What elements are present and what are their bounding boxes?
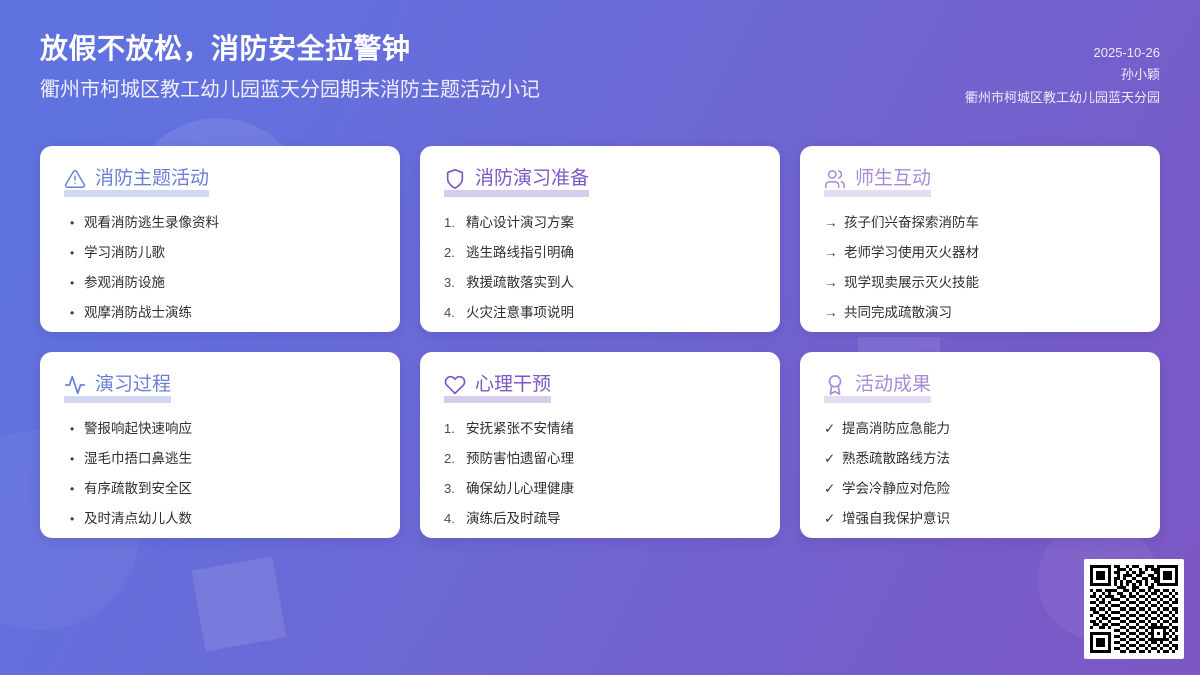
list-marker-arrow: → — [824, 269, 844, 296]
meta-organization: 衢州市柯城区教工幼儿园蓝天分园 — [965, 87, 1160, 109]
info-card: 消防演习准备1.精心设计演习方案2.逃生路线指引明确3.救援疏散落实到人4.火灾… — [420, 146, 780, 332]
list-marker-bullet: • — [64, 271, 84, 295]
list-marker-number: 3. — [444, 476, 466, 502]
list-marker-bullet: • — [64, 477, 84, 501]
list-item-label: 安抚紧张不安情绪 — [466, 415, 756, 442]
list-item: •有序疏散到安全区 — [64, 475, 376, 502]
info-card: 消防主题活动•观看消防逃生录像资料•学习消防儿歌•参观消防设施•观摩消防战士演练 — [40, 146, 400, 332]
list-item: 1.精心设计演习方案 — [444, 209, 756, 236]
list-marker-number: 4. — [444, 506, 466, 532]
list-item-label: 观摩消防战士演练 — [84, 299, 376, 326]
list-item-label: 学会冷静应对危险 — [842, 475, 1136, 502]
list-item-label: 观看消防逃生录像资料 — [84, 209, 376, 236]
list-item-label: 提高消防应急能力 — [842, 415, 1136, 442]
card-grid: 消防主题活动•观看消防逃生录像资料•学习消防儿歌•参观消防设施•观摩消防战士演练… — [40, 146, 1160, 538]
list-item: 3.救援疏散落实到人 — [444, 269, 756, 296]
list-marker-number: 2. — [444, 240, 466, 266]
list-item-label: 救援疏散落实到人 — [466, 269, 756, 296]
list-marker-bullet: • — [64, 417, 84, 441]
card-header: 演习过程 — [64, 374, 171, 403]
info-card: 心理干预1.安抚紧张不安情绪2.预防害怕遗留心理3.确保幼儿心理健康4.演练后及… — [420, 352, 780, 538]
list-marker-arrow: → — [824, 299, 844, 326]
list-item: ✓学会冷静应对危险 — [824, 475, 1136, 502]
list-item-label: 精心设计演习方案 — [466, 209, 756, 236]
card-title: 活动成果 — [855, 375, 931, 396]
card-header: 活动成果 — [824, 374, 931, 403]
list-item: •学习消防儿歌 — [64, 239, 376, 266]
card-title: 心理干预 — [475, 375, 551, 396]
list-item-label: 参观消防设施 — [84, 269, 376, 296]
card-header: 师生互动 — [824, 168, 931, 197]
list-item: ✓熟悉疏散路线方法 — [824, 445, 1136, 472]
card-title: 消防演习准备 — [475, 169, 589, 190]
qr-code — [1090, 565, 1178, 653]
list-marker-check: ✓ — [824, 415, 842, 442]
list-item-label: 逃生路线指引明确 — [466, 239, 756, 266]
list-item: →现学现卖展示灭火技能 — [824, 269, 1136, 296]
card-title: 演习过程 — [95, 375, 171, 396]
list-item-label: 警报响起快速响应 — [84, 415, 376, 442]
activity-pulse-icon — [64, 374, 86, 396]
header-meta-block: 2025-10-26 孙小颖 衢州市柯城区教工幼儿园蓝天分园 — [965, 42, 1160, 109]
list-item-label: 确保幼儿心理健康 — [466, 475, 756, 502]
shield-icon — [444, 168, 466, 190]
list-item-label: 孩子们兴奋探索消防车 — [844, 209, 1136, 236]
list-item-label: 及时清点幼儿人数 — [84, 505, 376, 532]
list-item: •观看消防逃生录像资料 — [64, 209, 376, 236]
list-item-label: 预防害怕遗留心理 — [466, 445, 756, 472]
list-item: →老师学习使用灭火器材 — [824, 239, 1136, 266]
list-item-label: 湿毛巾捂口鼻逃生 — [84, 445, 376, 472]
info-card: 活动成果✓提高消防应急能力✓熟悉疏散路线方法✓学会冷静应对危险✓增强自我保护意识 — [800, 352, 1160, 538]
list-item: 4.火灾注意事项说明 — [444, 299, 756, 326]
card-header: 消防主题活动 — [64, 168, 209, 197]
list-marker-number: 2. — [444, 446, 466, 472]
info-card: 师生互动→孩子们兴奋探索消防车→老师学习使用灭火器材→现学现卖展示灭火技能→共同… — [800, 146, 1160, 332]
list-marker-check: ✓ — [824, 445, 842, 472]
list-marker-bullet: • — [64, 241, 84, 265]
list-marker-check: ✓ — [824, 475, 842, 502]
card-header: 心理干预 — [444, 374, 551, 403]
list-marker-bullet: • — [64, 507, 84, 531]
list-item-label: 学习消防儿歌 — [84, 239, 376, 266]
list-item-label: 火灾注意事项说明 — [466, 299, 756, 326]
list-marker-arrow: → — [824, 209, 844, 236]
list-marker-number: 3. — [444, 270, 466, 296]
list-marker-number: 1. — [444, 210, 466, 236]
list-marker-number: 1. — [444, 416, 466, 442]
poster-header: 放假不放松，消防安全拉警钟 衢州市柯城区教工幼儿园蓝天分园期末消防主题活动小记 … — [0, 0, 1200, 132]
list-item-label: 有序疏散到安全区 — [84, 475, 376, 502]
meta-date: 2025-10-26 — [1094, 42, 1161, 64]
card-title: 消防主题活动 — [95, 169, 209, 190]
list-item: 2.预防害怕遗留心理 — [444, 445, 756, 472]
card-item-list: →孩子们兴奋探索消防车→老师学习使用灭火器材→现学现卖展示灭火技能→共同完成疏散… — [824, 209, 1136, 326]
list-marker-check: ✓ — [824, 505, 842, 532]
poster-subtitle: 衢州市柯城区教工幼儿园蓝天分园期末消防主题活动小记 — [40, 77, 540, 104]
card-item-list: 1.安抚紧张不安情绪2.预防害怕遗留心理3.确保幼儿心理健康4.演练后及时疏导 — [444, 415, 756, 532]
poster-title: 放假不放松，消防安全拉警钟 — [40, 30, 540, 68]
list-item: ✓增强自我保护意识 — [824, 505, 1136, 532]
list-item: 2.逃生路线指引明确 — [444, 239, 756, 266]
info-card: 演习过程•警报响起快速响应•湿毛巾捂口鼻逃生•有序疏散到安全区•及时清点幼儿人数 — [40, 352, 400, 538]
card-title: 师生互动 — [855, 169, 931, 190]
header-title-block: 放假不放松，消防安全拉警钟 衢州市柯城区教工幼儿园蓝天分园期末消防主题活动小记 — [40, 30, 540, 104]
list-item: •观摩消防战士演练 — [64, 299, 376, 326]
list-marker-bullet: • — [64, 447, 84, 471]
list-item: 3.确保幼儿心理健康 — [444, 475, 756, 502]
list-marker-number: 4. — [444, 300, 466, 326]
list-item-label: 老师学习使用灭火器材 — [844, 239, 1136, 266]
list-item: •湿毛巾捂口鼻逃生 — [64, 445, 376, 472]
meta-author: 孙小颖 — [1121, 64, 1160, 86]
list-marker-arrow: → — [824, 239, 844, 266]
list-item: →孩子们兴奋探索消防车 — [824, 209, 1136, 236]
card-header: 消防演习准备 — [444, 168, 589, 197]
list-item: 1.安抚紧张不安情绪 — [444, 415, 756, 442]
list-item-label: 增强自我保护意识 — [842, 505, 1136, 532]
qr-code-container[interactable] — [1084, 559, 1184, 659]
list-item: 4.演练后及时疏导 — [444, 505, 756, 532]
list-item: •警报响起快速响应 — [64, 415, 376, 442]
list-item: →共同完成疏散演习 — [824, 299, 1136, 326]
decorative-square — [192, 557, 287, 652]
list-item-label: 熟悉疏散路线方法 — [842, 445, 1136, 472]
card-item-list: •警报响起快速响应•湿毛巾捂口鼻逃生•有序疏散到安全区•及时清点幼儿人数 — [64, 415, 376, 532]
list-marker-bullet: • — [64, 211, 84, 235]
list-item-label: 现学现卖展示灭火技能 — [844, 269, 1136, 296]
list-item: •及时清点幼儿人数 — [64, 505, 376, 532]
card-item-list: 1.精心设计演习方案2.逃生路线指引明确3.救援疏散落实到人4.火灾注意事项说明 — [444, 209, 756, 326]
card-item-list: •观看消防逃生录像资料•学习消防儿歌•参观消防设施•观摩消防战士演练 — [64, 209, 376, 326]
card-item-list: ✓提高消防应急能力✓熟悉疏散路线方法✓学会冷静应对危险✓增强自我保护意识 — [824, 415, 1136, 532]
users-icon — [824, 168, 846, 190]
list-item: •参观消防设施 — [64, 269, 376, 296]
list-marker-bullet: • — [64, 301, 84, 325]
heart-icon — [444, 374, 466, 396]
list-item-label: 共同完成疏散演习 — [844, 299, 1136, 326]
list-item-label: 演练后及时疏导 — [466, 505, 756, 532]
poster-canvas: 放假不放松，消防安全拉警钟 衢州市柯城区教工幼儿园蓝天分园期末消防主题活动小记 … — [0, 0, 1200, 675]
award-medal-icon — [824, 374, 846, 396]
warning-triangle-icon — [64, 168, 86, 190]
list-item: ✓提高消防应急能力 — [824, 415, 1136, 442]
